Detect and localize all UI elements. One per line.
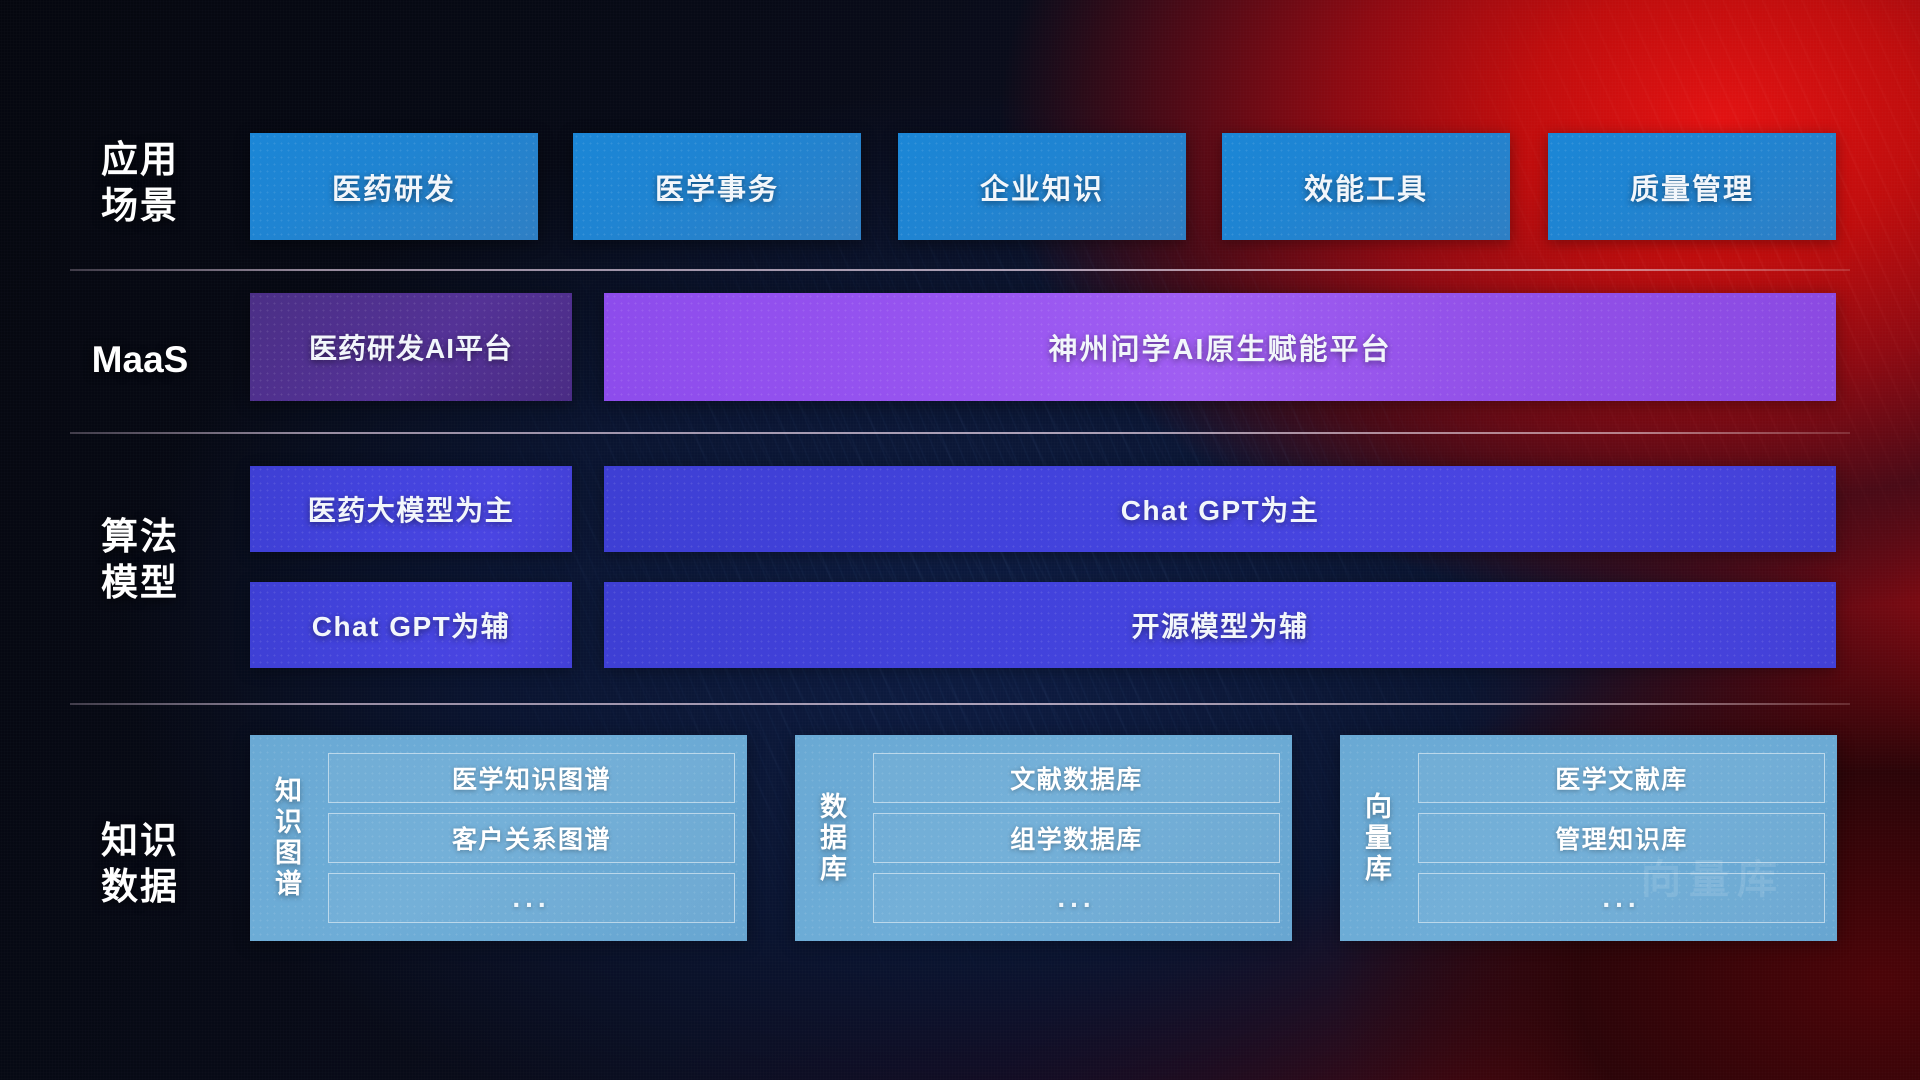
algorithm-card-label: Chat GPT为辅 — [312, 605, 511, 645]
knowledge-item-more[interactable]: ... — [328, 873, 735, 923]
knowledge-item[interactable]: 医学知识图谱 — [328, 753, 735, 803]
separator-application-maas — [70, 269, 1850, 271]
maas-right-card[interactable]: 神州问学AI原生赋能平台 — [604, 293, 1836, 401]
app-card-2[interactable]: 企业知识 — [898, 133, 1186, 240]
app-card-label: 质量管理 — [1630, 166, 1754, 208]
knowledge-item-more[interactable]: ... — [1418, 873, 1825, 923]
app-card-label: 医药研发 — [332, 166, 456, 208]
row-label-algorithm: 算法 模型 — [70, 514, 210, 606]
row-label-application: 应用 场景 — [70, 137, 210, 229]
algorithm-card-label: 开源模型为辅 — [1131, 605, 1308, 645]
algorithm-right-card-0[interactable]: Chat GPT为主 — [604, 466, 1836, 552]
app-card-label: 效能工具 — [1304, 166, 1428, 208]
knowledge-item[interactable]: 管理知识库 — [1418, 813, 1825, 863]
app-card-0[interactable]: 医药研发 — [250, 133, 538, 240]
knowledge-item[interactable]: 文献数据库 — [873, 753, 1280, 803]
knowledge-item[interactable]: 医学文献库 — [1418, 753, 1825, 803]
separator-maas-algorithm — [70, 432, 1850, 434]
row-label-maas: MaaS — [70, 337, 210, 383]
row-label-knowledge: 知识 数据 — [70, 818, 210, 910]
knowledge-item-more[interactable]: ... — [873, 873, 1280, 923]
knowledge-item-list: 医学文献库 管理知识库 ... — [1418, 753, 1825, 923]
algorithm-left-card-0[interactable]: 医药大模型为主 — [250, 466, 572, 552]
algorithm-right-card-1[interactable]: 开源模型为辅 — [604, 582, 1836, 668]
knowledge-group-0[interactable]: 知 识 图 谱 医学知识图谱 客户关系图谱 ... — [250, 735, 747, 941]
algorithm-left-card-1[interactable]: Chat GPT为辅 — [250, 582, 572, 668]
knowledge-item[interactable]: 客户关系图谱 — [328, 813, 735, 863]
algorithm-card-label: 医药大模型为主 — [308, 489, 515, 529]
knowledge-group-title: 知 识 图 谱 — [250, 776, 328, 900]
maas-right-card-label: 神州问学AI原生赋能平台 — [1048, 326, 1391, 368]
app-card-4[interactable]: 质量管理 — [1548, 133, 1836, 240]
knowledge-item-list: 医学知识图谱 客户关系图谱 ... — [328, 753, 735, 923]
knowledge-group-title: 向 量 库 — [1340, 792, 1418, 885]
app-card-1[interactable]: 医学事务 — [573, 133, 861, 240]
algorithm-card-label: Chat GPT为主 — [1121, 489, 1320, 529]
app-card-3[interactable]: 效能工具 — [1222, 133, 1510, 240]
knowledge-group-2[interactable]: 向量库 向 量 库 医学文献库 管理知识库 ... — [1340, 735, 1837, 941]
knowledge-group-title: 数 据 库 — [795, 792, 873, 885]
maas-left-card-label: 医药研发AI平台 — [309, 327, 513, 367]
maas-left-card[interactable]: 医药研发AI平台 — [250, 293, 572, 401]
separator-algorithm-knowledge — [70, 703, 1850, 705]
app-card-label: 企业知识 — [980, 166, 1104, 208]
knowledge-item-list: 文献数据库 组学数据库 ... — [873, 753, 1280, 923]
knowledge-item[interactable]: 组学数据库 — [873, 813, 1280, 863]
app-card-label: 医学事务 — [655, 166, 779, 208]
architecture-diagram: 应用 场景 医药研发 医学事务 企业知识 效能工具 质量管理 MaaS 医药研发… — [0, 0, 1920, 1080]
knowledge-group-1[interactable]: 数 据 库 文献数据库 组学数据库 ... — [795, 735, 1292, 941]
